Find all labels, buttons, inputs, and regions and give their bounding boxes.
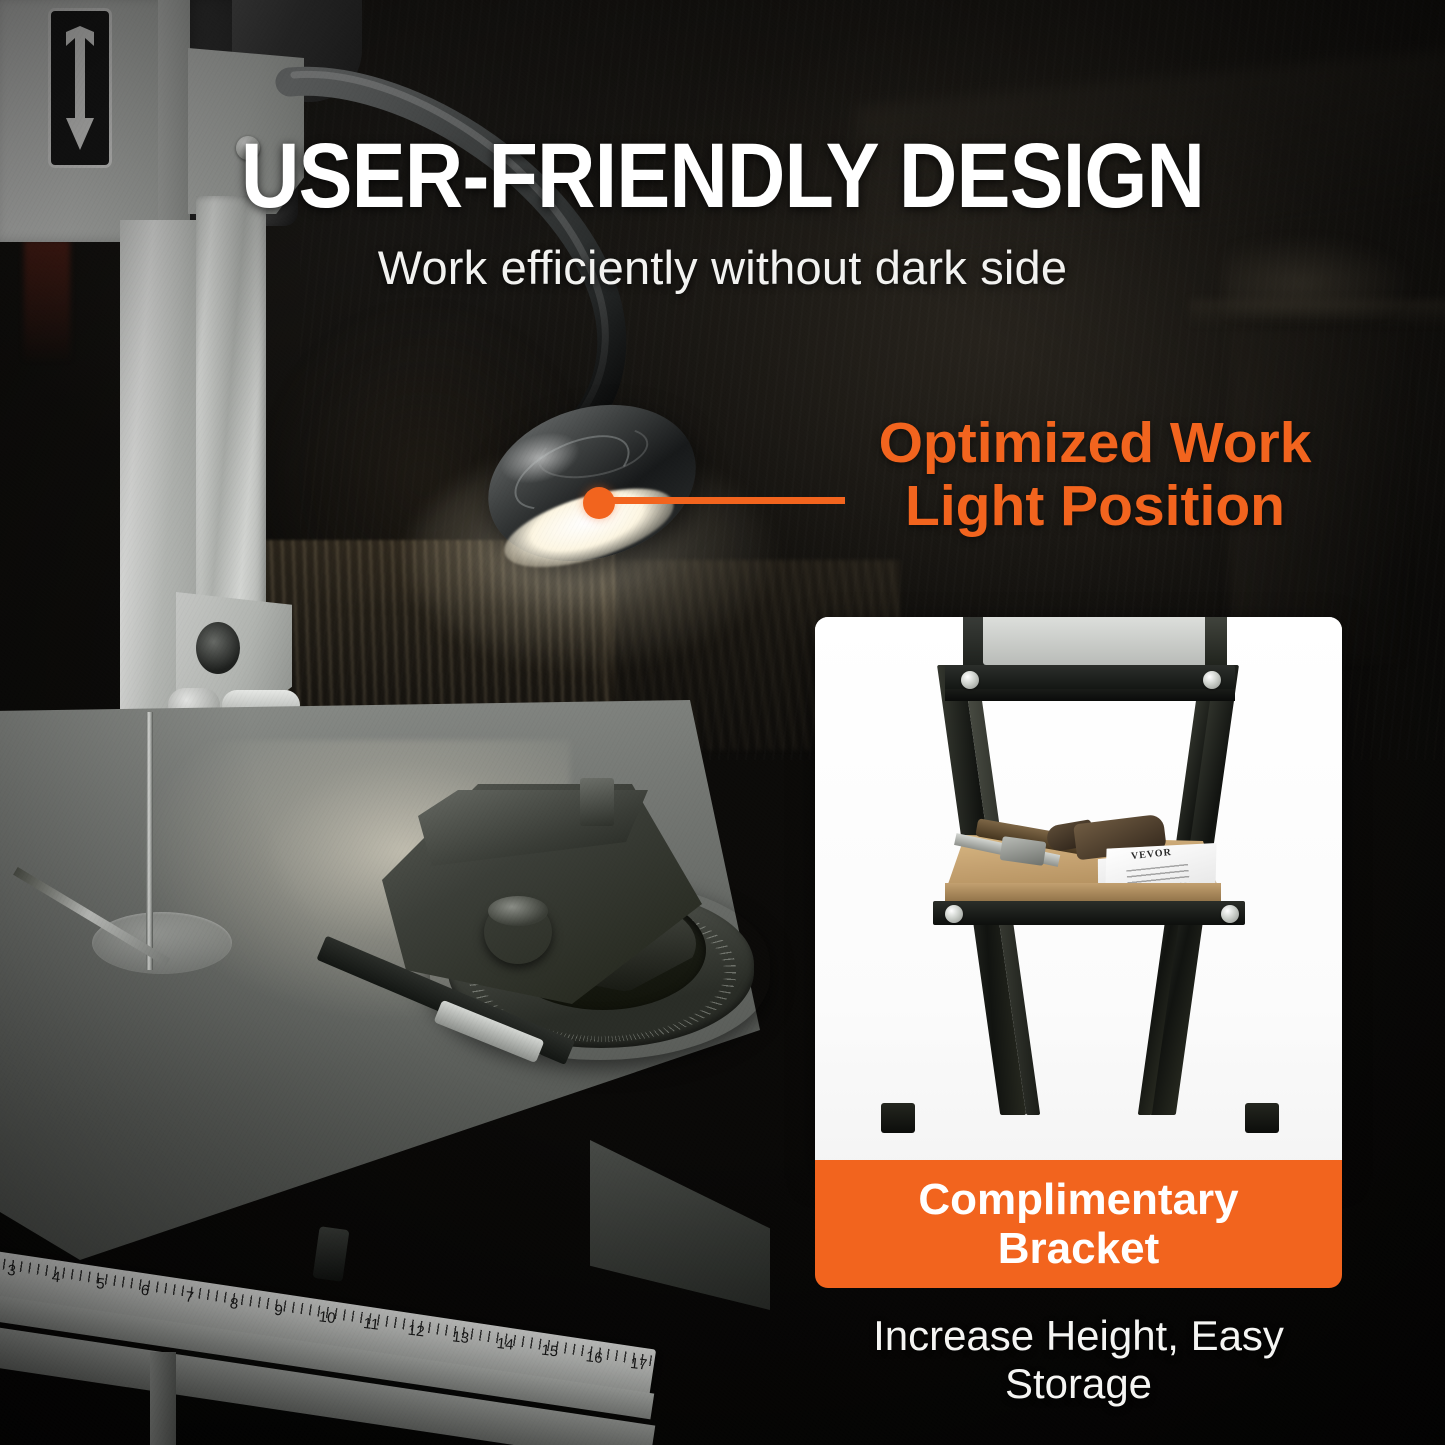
stand-foot-right xyxy=(1245,1103,1279,1133)
miter-gauge-stop-tab xyxy=(580,778,614,826)
bandsaw-guide-bearing xyxy=(196,622,240,674)
banner-line-1: Complimentary xyxy=(918,1175,1238,1224)
stand-foot-left xyxy=(881,1103,915,1133)
callout-leader-line xyxy=(610,497,845,504)
stand-shelf-front-edge xyxy=(945,883,1221,903)
bracket-banner: Complimentary Bracket xyxy=(815,1160,1342,1288)
ruler-mark: 5 xyxy=(93,1275,140,1297)
bottom-caption: Increase Height, Easy Storage xyxy=(815,1312,1342,1408)
stand-bolt xyxy=(961,671,979,689)
stand-cross-brace xyxy=(933,901,1245,925)
stand-machine-body xyxy=(983,617,1211,665)
banner-line-2: Bracket xyxy=(998,1224,1159,1273)
callout-line-2: Light Position xyxy=(860,475,1330,538)
stand-top-rail-shadow xyxy=(945,689,1235,701)
feature-callout: Optimized Work Light Position xyxy=(860,412,1330,537)
product-feature-image: 2 3 4 5 6 7 8 9 10 11 12 13 14 15 16 17 xyxy=(0,0,1445,1445)
saw-blade xyxy=(146,712,153,970)
miter-gauge-fence-hole xyxy=(528,798,562,822)
page-subtitle: Work efficiently without dark side xyxy=(0,240,1445,295)
stand-machine-side-right xyxy=(1205,617,1227,671)
callout-line-1: Optimized Work xyxy=(860,412,1330,475)
miter-gauge-knob-cap[interactable] xyxy=(488,896,548,926)
stand-bolt xyxy=(1203,671,1221,689)
page-title: USER-FRIENDLY DESIGN xyxy=(87,130,1359,222)
bracket-inset-panel: VEVOR xyxy=(815,617,1342,1173)
stand-bolt xyxy=(1221,905,1239,923)
machine-leg xyxy=(150,1352,176,1445)
stand-bolt xyxy=(945,905,963,923)
